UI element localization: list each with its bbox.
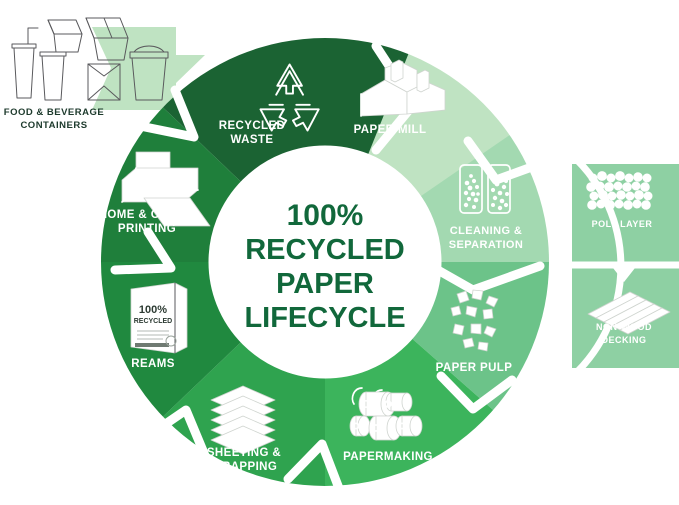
center-line-2: RECYCLED — [245, 234, 405, 266]
label-sheeting-wrapping-1: SHEETING & — [207, 447, 281, 459]
paper-stack-icon — [211, 386, 275, 454]
center-line-1: 100% — [287, 199, 364, 232]
label-recycled-waste-1: RECYCLED — [219, 120, 285, 132]
infographic-svg: 100% RECYCLED PAPER LIFECYCLE — [0, 0, 679, 505]
label-non-wood-decking-2: DECKING — [601, 335, 646, 345]
label-home-office-printing-2: PRINTING — [118, 223, 176, 235]
label-cleaning-separation-2: SEPARATION — [449, 239, 524, 251]
label-recycled-waste-2: WASTE — [231, 134, 274, 146]
label-sheeting-wrapping-2: WRAPPING — [211, 461, 277, 473]
label-poly-layer: POLY LAYER — [592, 219, 653, 229]
label-food-beverage-1: FOOD & BEVERAGE — [4, 107, 104, 118]
label-non-wood-decking-1: NON-WOOD — [596, 322, 652, 332]
label-food-beverage-2: CONTAINERS — [20, 120, 87, 131]
label-paper-pulp-1: PAPER PULP — [436, 362, 513, 374]
label-paper-mill-1: PAPER MILL — [354, 124, 427, 136]
label-reams-1: REAMS — [131, 358, 175, 370]
label-papermaking-1: PAPERMAKING — [343, 451, 433, 463]
label-cleaning-separation-1: CLEANING & — [450, 225, 522, 237]
infographic-canvas: 100% RECYCLED PAPER LIFECYCLE — [0, 0, 679, 505]
center-line-3: PAPER — [276, 268, 374, 300]
ream-label-recycled: RECYCLED — [134, 318, 173, 325]
ream-label-100: 100% — [139, 304, 167, 316]
input-label-food-beverage: FOOD & BEVERAGE CONTAINERS — [4, 107, 104, 131]
center-line-4: LIFECYCLE — [244, 302, 405, 334]
label-home-office-printing-1: HOME & OFFICE — [99, 209, 196, 221]
paper-ream-icon: 100% RECYCLED — [131, 283, 187, 353]
